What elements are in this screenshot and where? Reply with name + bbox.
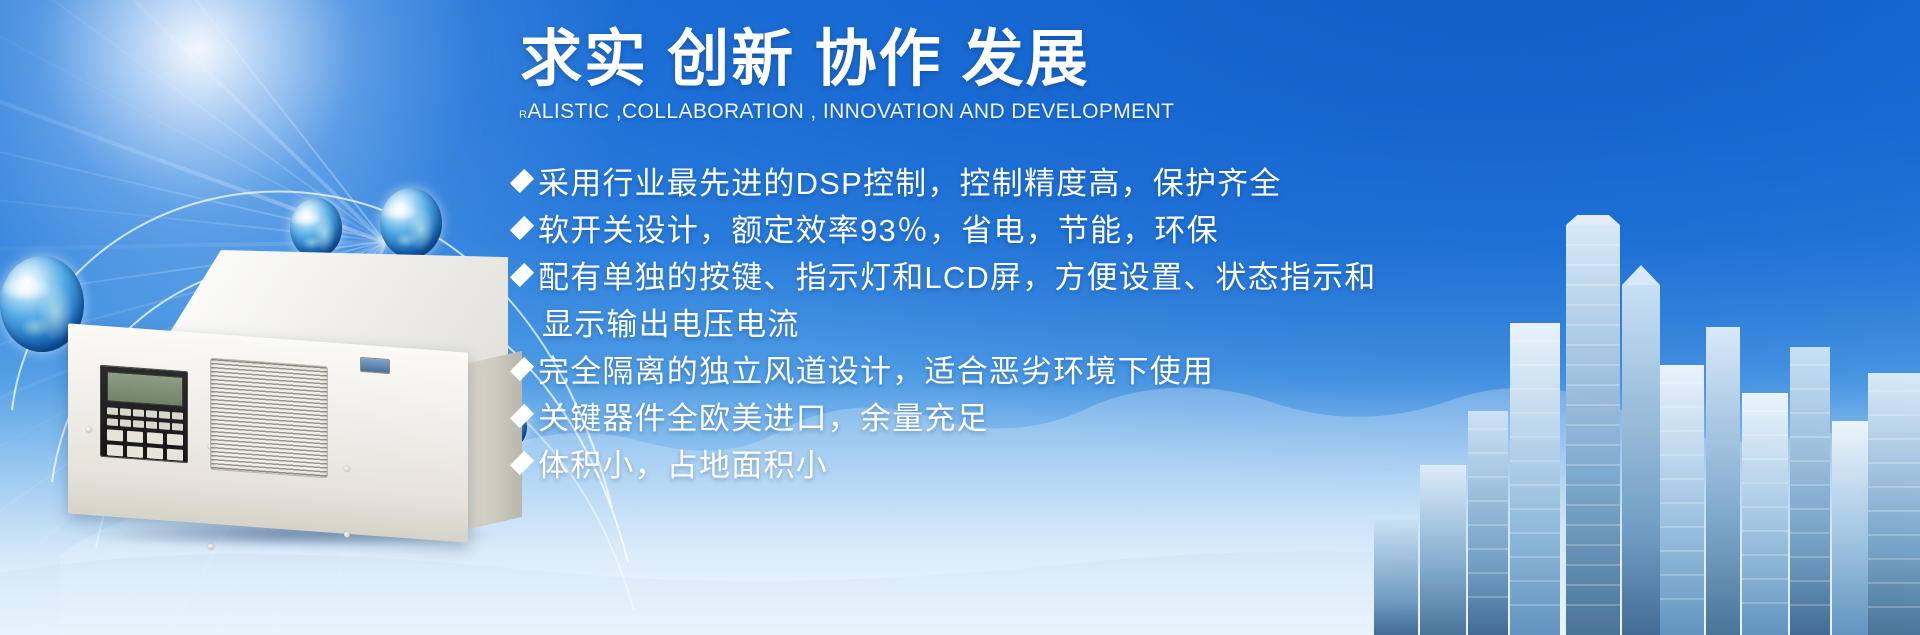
indicator-row-1: [107, 407, 183, 420]
feature-text: 显示输出电压电流: [542, 301, 800, 348]
feature-text: 体积小，占地面积小: [538, 442, 828, 489]
vga-port: [360, 357, 390, 374]
feature-item: 采用行业最先进的DSP控制，控制精度高，保护齐全: [515, 160, 1915, 207]
screw-icon: [344, 466, 350, 472]
feature-item: 关键器件全欧美进口，余量充足: [515, 395, 1915, 442]
globe-icon-2: [290, 198, 342, 258]
control-panel: [100, 365, 188, 463]
feature-item: 配有单独的按键、指示灯和LCD屏，方便设置、状态指示和: [515, 254, 1915, 301]
screw-icon: [208, 544, 214, 550]
fan-grille: [210, 358, 328, 479]
indicator-row-2: [107, 418, 183, 431]
feature-item: 完全隔离的独立风道设计，适合恶劣环境下使用: [515, 348, 1915, 395]
feature-list: 采用行业最先进的DSP控制，控制精度高，保护齐全软开关设计，额定效率93％，省电…: [515, 160, 1915, 490]
feature-item: 显示输出电压电流: [515, 301, 1915, 348]
feature-item: 体积小，占地面积小: [515, 442, 1915, 489]
feature-text: 采用行业最先进的DSP控制，控制精度高，保护齐全: [538, 160, 1282, 207]
feature-text: 关键器件全欧美进口，余量充足: [538, 395, 989, 442]
lcd-screen: [107, 371, 183, 407]
feature-item: 软开关设计，额定效率93％，省电，节能，环保: [515, 207, 1915, 254]
screw-icon: [344, 532, 350, 538]
feature-text: 配有单独的按键、指示灯和LCD屏，方便设置、状态指示和: [538, 254, 1376, 301]
feature-text: 完全隔离的独立风道设计，适合恶劣环境下使用: [538, 348, 1214, 395]
page-subtitle: RALISTIC ,COLLABORATION , INNOVATION AND…: [519, 100, 1915, 124]
keypad-row-1: [107, 429, 183, 446]
banner-text-block: 求实 创新 协作 发展 RALISTIC ,COLLABORATION , IN…: [515, 22, 1915, 489]
globe-icon-3: [380, 188, 442, 258]
promo-banner: 求实 创新 协作 发展 RALISTIC ,COLLABORATION , IN…: [0, 0, 1920, 635]
chassis-side: [460, 351, 522, 531]
page-title: 求实 创新 协作 发展: [520, 22, 1915, 98]
feature-text: 软开关设计，额定效率93％，省电，节能，环保: [538, 207, 1219, 254]
product-image-power-supply: [60, 250, 530, 530]
screw-icon: [86, 427, 92, 433]
subtitle-main: ALISTIC ,COLLABORATION , INNOVATION AND …: [527, 100, 1174, 123]
